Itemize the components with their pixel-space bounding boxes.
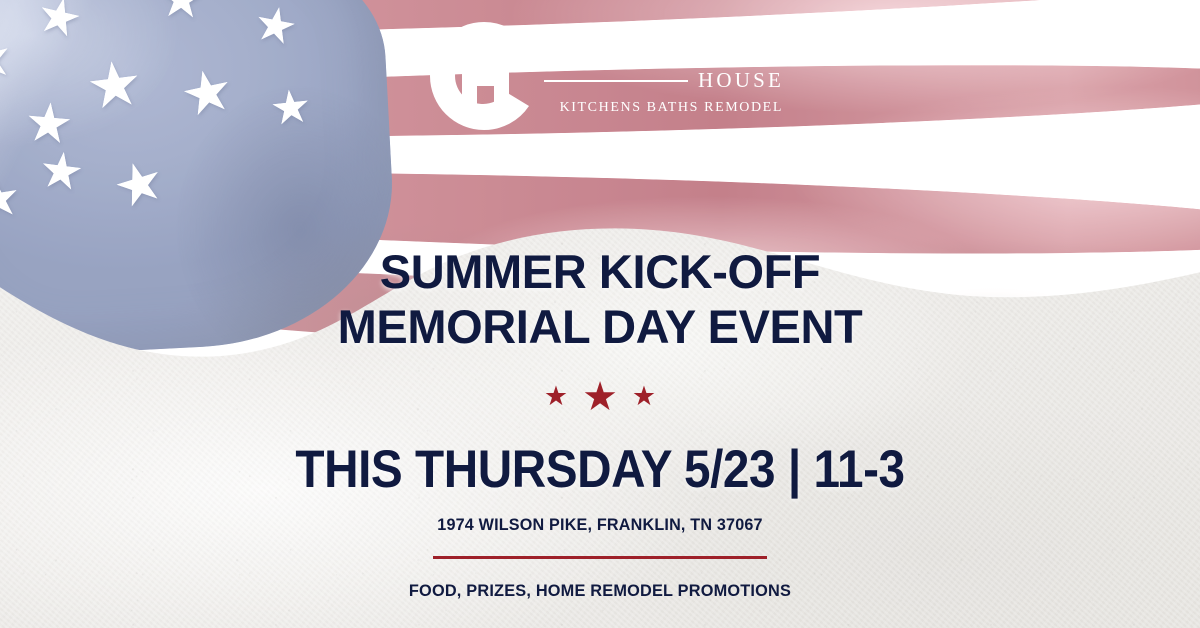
logo-house-row: HOUSE [540,70,784,91]
stars-divider: ★ ★ ★ [0,377,1200,417]
event-address: 1974 WILSON PIKE, FRANKLIN, TN 37067 [30,516,1170,533]
headline-line-1: SUMMER KICK-OFF [0,244,1200,299]
logo-wordmark: CARRIAGE HOUSE KITCHENS BATHS REMODEL [540,20,784,115]
star-icon: ★ [582,377,618,417]
star-icon: ★ [544,383,568,410]
logo-brand-name-second-line: HOUSE [698,70,784,91]
headline-line-2: MEMORIAL DAY EVENT [0,299,1200,354]
event-promotions: FOOD, PRIZES, HOME REMODEL PROMOTIONS [24,582,1176,599]
logo-divider-rule [544,80,688,82]
star-icon: ★ [632,383,656,410]
event-date-time: THIS THURSDAY 5/23 | 11-3 [60,443,1140,496]
red-divider-rule [433,556,767,559]
logo-brand-name: CARRIAGE [540,20,784,61]
event-headline: SUMMER KICK-OFF MEMORIAL DAY EVENT [0,244,1200,355]
memorial-day-event-banner: ★ ★ ★ ★ ★ ★ ★ ★ ★ ★ ★ ★ CARRIAGE [0,0,1200,628]
carriage-house-ch-monogram-icon [424,16,544,136]
event-content: SUMMER KICK-OFF MEMORIAL DAY EVENT ★ ★ ★… [0,244,1200,599]
carriage-house-logo[interactable]: CARRIAGE HOUSE KITCHENS BATHS REMODEL [424,14,784,138]
logo-tagline: KITCHENS BATHS REMODEL [540,101,784,115]
